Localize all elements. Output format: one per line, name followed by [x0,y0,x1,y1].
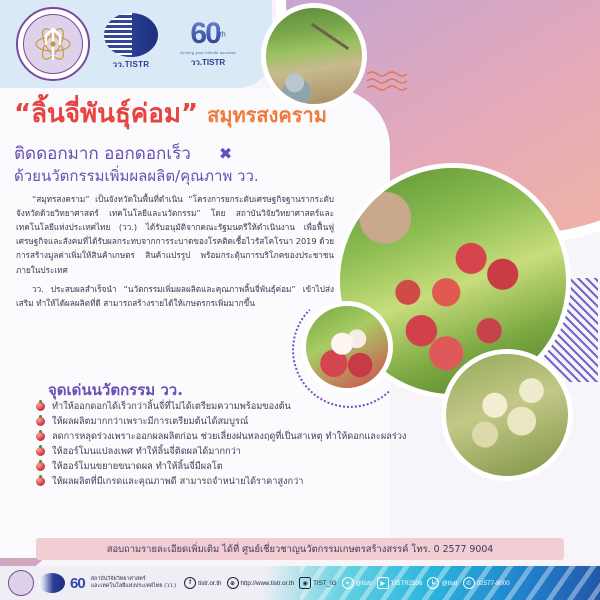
lychee-bullet-icon [36,402,45,411]
subtitle-line-2: ด้วยนวัตกรรมเพิ่มผลผลิต/คุณภาพ วว. [14,164,354,188]
footer-org-line-2: และเทคโนโลยีแห่งประเทศไทย (วว.) [91,583,176,590]
body-paragraph: “สมุทรสงคราม” เป็นจังหวัดในพื้นที่ดำเนิน… [16,192,334,277]
sixty-superscript: th [220,32,226,39]
footer-facebook-label: tistr.or.th [198,580,221,587]
header-logos: วว.TISTR 60th Driving your infinite succ… [16,7,244,81]
list-item: ลดการหลุดร่วงเพราะออกผลผลิตก่อน ช่วยเลี่… [36,430,436,443]
list-item: ให้ผลผลิตมากกว่าเพราะมีการเตรียมต้นได้สม… [36,415,436,428]
footer-instagram-label: TIST_IG [313,580,336,587]
footer-twitter-label: @tistr [356,580,372,587]
lychee-bullet-icon [36,447,45,456]
list-item: ทำให้ออกดอกได้เร็วกว่าลิ้นจี่ที่ไม่ได้เต… [36,400,436,413]
footer-org-line-1: สถาบันวิจัยวิทยาศาสตร์ [91,576,176,583]
twitter-icon: ✦ [342,577,354,589]
contact-bar: สอบถามรายละเอียดเพิ่มเติม ได้ที่ ศูนย์เช… [36,538,564,560]
list-item-label: ให้ฮอร์โมนแปลงเพศ ทำให้ลิ้นจี่ติดผลได้มา… [52,446,241,457]
footer-social-links: ftistr.or.th ⊕http://www.tistr.or.th ◉TI… [184,577,510,589]
list-item-label: ให้ผลผลิตมากกว่าเพราะมีการเตรียมต้นได้สม… [52,416,248,427]
list-item: ให้ฮอร์โมนขยายขนาดผล ทำให้ลิ้นจี่มีผลโต [36,460,436,473]
footer-website[interactable]: ⊕http://www.tistr.or.th [227,577,295,589]
footer-bar: 60 สถาบันวิจัยวิทยาศาสตร์ และเทคโนโลยีแห… [0,566,600,600]
body-paragraph: วว. ประสบผลสำเร็จนำ “นวัตกรรมเพิ่มผลผลิต… [16,282,334,310]
page-title: “ลิ้นจี่พันธุ์ค่อม” สมุทรสงคราม [14,100,374,130]
tistr-60th-logo-icon: 60th Driving your infinite success วว.TI… [172,9,244,79]
contact-text: สอบถามรายละเอียดเพิ่มเติม ได้ที่ ศูนย์เช… [107,542,494,557]
footer-phone[interactable]: ✆02577-9000 [463,577,510,589]
list-item-label: ให้ฮอร์โมนขยายขนาดผล ทำให้ลิ้นจี่มีผลโต [52,461,223,472]
list-item-label: ลดการหลุดร่วงเพราะออกผลผลิตก่อน ช่วยเลี่… [52,431,406,442]
cross-mark-icon: ✖ [219,144,232,163]
sixty-number: 60 [190,17,219,50]
list-item-label: ให้ผลผลิตที่มีเกรดและคุณภาพดี สามารถจำหน… [52,476,303,487]
wavy-lines-decoration [366,70,412,96]
footer-line[interactable]: L@tistr [427,577,457,589]
footer-sixty-logo-icon: 60 [70,576,85,591]
footer-youtube-label: TISTR2506 [391,580,423,587]
subtitle-text-1: ติดดอกมาก ออกดอกเร็ว [14,144,191,164]
subtitle-line-1: ติดดอกมาก ออกดอกเร็ว✖ [14,140,344,167]
lychee-bullet-icon [36,462,45,471]
list-item-label: ทำให้ออกดอกได้เร็วกว่าลิ้นจี่ที่ไม่ได้เต… [52,401,291,412]
lychee-bullet-icon [36,417,45,426]
tistr-royal-emblem-icon [16,7,90,81]
footer-instagram[interactable]: ◉TIST_IG [299,577,336,589]
sixty-tagline: Driving your infinite success [180,50,235,55]
tistr-wordmark-60: วว.TISTR [191,56,225,69]
website-icon: ⊕ [227,577,239,589]
instagram-icon: ◉ [299,577,311,589]
lychee-flower-photo [446,354,568,476]
footer-youtube[interactable]: ▶TISTR2506 [377,577,423,589]
highlights-list: ทำให้ออกดอกได้เร็วกว่าลิ้นจี่ที่ไม่ได้เต… [36,400,436,490]
footer-royal-emblem-icon [8,570,34,596]
orchard-photo [266,8,362,104]
footer-globe-logo-icon [39,573,65,593]
footer-website-label: http://www.tistr.or.th [241,580,295,587]
footer-line-label: @tistr [441,580,457,587]
facebook-icon: f [184,577,196,589]
lychee-bullet-icon [36,432,45,441]
footer-logos: 60 [8,570,85,596]
footer-phone-label: 02577-9000 [477,580,510,587]
tistr-globe-logo-icon: วว.TISTR [100,13,162,75]
lychee-bullet-icon [36,477,45,486]
youtube-icon: ▶ [377,577,389,589]
infographic-poster: วว.TISTR 60th Driving your infinite succ… [0,0,600,600]
footer-organisation-name: สถาบันวิจัยวิทยาศาสตร์ และเทคโนโลยีแห่งป… [91,576,176,591]
list-item: ให้ฮอร์โมนแปลงเพศ ทำให้ลิ้นจี่ติดผลได้มา… [36,445,436,458]
peeled-lychee-photo [306,306,388,388]
title-province: สมุทรสงคราม [207,103,327,127]
title-variety: “ลิ้นจี่พันธุ์ค่อม” [14,99,198,129]
tistr-wordmark: วว.TISTR [113,58,150,71]
line-icon: L [427,577,439,589]
phone-icon: ✆ [463,577,475,589]
footer-twitter[interactable]: ✦@tistr [342,577,372,589]
highlights-title: จุดเด่นนวัตกรรม วว. [48,378,183,402]
body-text: “สมุทรสงคราม” เป็นจังหวัดในพื้นที่ดำเนิน… [16,192,334,315]
footer-facebook[interactable]: ftistr.or.th [184,577,221,589]
list-item: ให้ผลผลิตที่มีเกรดและคุณภาพดี สามารถจำหน… [36,475,436,488]
